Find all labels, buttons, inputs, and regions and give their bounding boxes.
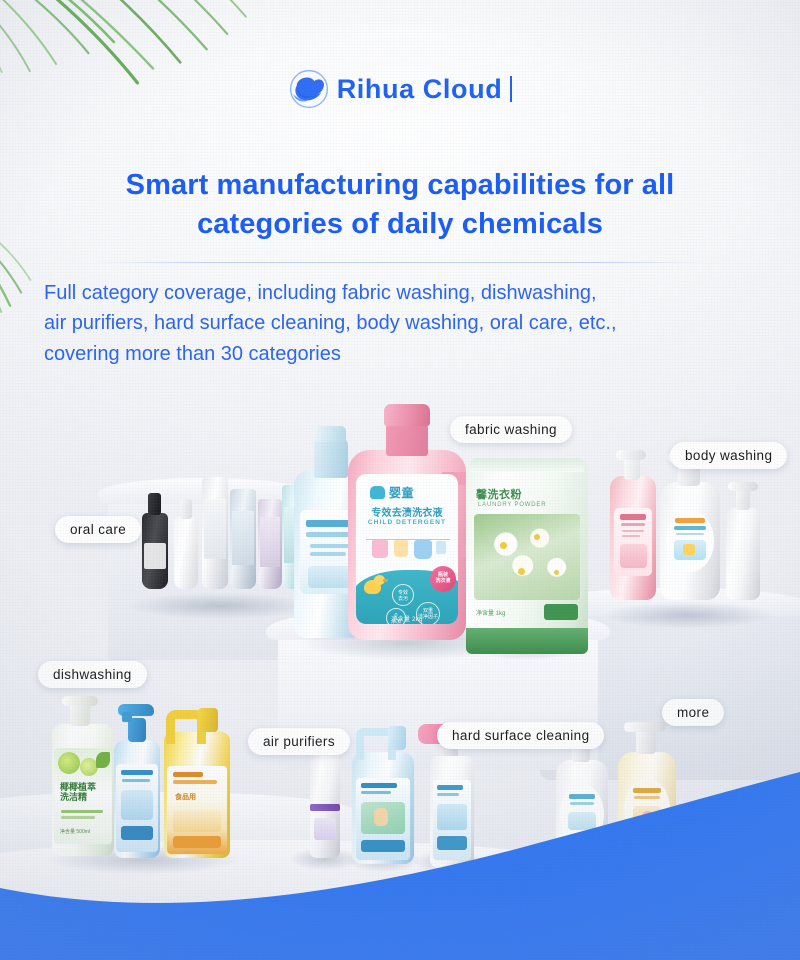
hero-title-en: CHILD DETERGENT xyxy=(362,519,452,526)
callout-oral-care[interactable]: oral care xyxy=(55,516,141,543)
whale-logo-icon xyxy=(288,68,330,110)
hero-bottle-cap xyxy=(384,404,430,426)
powder-bag-subtitle: LAUNDRY POWDER xyxy=(478,502,546,508)
product-oral-care-group xyxy=(130,455,310,615)
powder-bag-floral-art xyxy=(474,514,580,600)
hero-badge: 瓶装洗衣液 xyxy=(430,566,456,592)
hero-bottle-label: 婴童 专效去渍洗衣液 CHILD DETERGENT 专效去污 0添加 双重洁净… xyxy=(356,474,458,624)
hero-net-weight: 净含量 2kg xyxy=(356,614,458,623)
powder-bag-title: 馨洗衣粉 xyxy=(476,486,522,502)
callout-body-washing[interactable]: body washing xyxy=(670,442,787,469)
subhead-line-3: covering more than 30 categories xyxy=(44,339,774,369)
powder-bag-weight: 净含量 1kg xyxy=(476,608,505,617)
brand-logo: Rihua Cloud xyxy=(0,68,800,110)
callout-hard-surface-cleaning[interactable]: hard surface cleaning xyxy=(437,722,604,749)
hero-feature-1: 专效去污 xyxy=(392,584,414,606)
page-title: Smart manufacturing capabilities for all… xyxy=(60,166,740,245)
page-subtitle: Full category coverage, including fabric… xyxy=(44,278,774,369)
product-white-pump xyxy=(174,517,198,589)
logo-caret xyxy=(510,76,512,102)
headline-line-2: categories of daily chemicals xyxy=(60,205,740,244)
product-laundry-powder-bag: 馨洗衣粉 LAUNDRY POWDER 净含量 1kg xyxy=(466,458,588,658)
hero-brand-cn: 婴童 xyxy=(389,484,414,501)
subhead-line-1: Full category coverage, including fabric… xyxy=(44,278,774,308)
title-divider xyxy=(95,262,705,263)
callout-air-purifiers[interactable]: air purifiers xyxy=(248,728,350,755)
headline-line-1: Smart manufacturing capabilities for all xyxy=(60,166,740,205)
bottom-wave-decoration xyxy=(0,770,800,960)
callout-dishwashing[interactable]: dishwashing xyxy=(38,661,147,688)
product-body-washing-group xyxy=(604,452,772,624)
powder-bag-tag xyxy=(544,604,578,620)
poster-canvas: Rihua Cloud Smart manufacturing capabili… xyxy=(0,0,800,960)
product-slim-pump xyxy=(726,508,760,600)
callout-more[interactable]: more xyxy=(662,699,724,726)
brand-name: Rihua Cloud xyxy=(337,74,503,105)
hero-title-cn: 专效去渍洗衣液 xyxy=(364,504,450,519)
subhead-line-2: air purifiers, hard surface cleaning, bo… xyxy=(44,308,774,338)
callout-fabric-washing[interactable]: fabric washing xyxy=(450,416,572,443)
